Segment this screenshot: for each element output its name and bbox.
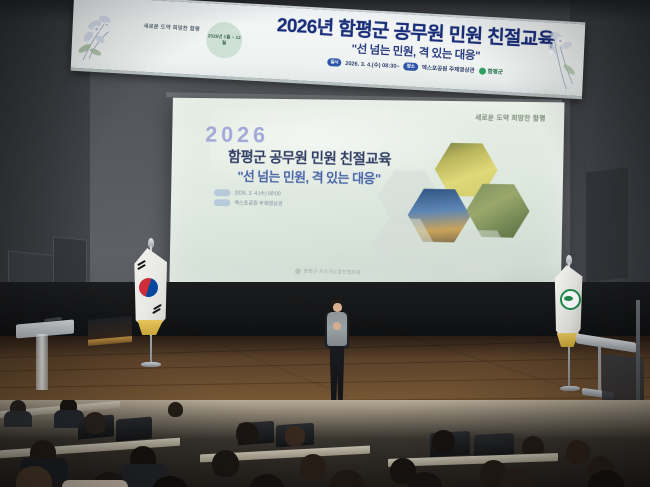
slide-corner-slogan: 새로운 도약 희망찬 함평	[475, 113, 546, 123]
county-flag-base	[560, 386, 580, 391]
speaker-hands	[333, 322, 341, 330]
audience-body-light-jacket	[62, 480, 128, 487]
slide-place-text: 엑스포공원 주제영상관	[234, 199, 282, 207]
audience-head	[84, 412, 106, 434]
slide-year: 2026	[205, 122, 269, 149]
slide-footer-text: 함평군 지속가능발전협의회	[304, 269, 361, 276]
banner-place-text: 엑스포공원 주제영상관	[422, 63, 475, 74]
banner-org-name: 함평군	[487, 67, 503, 76]
speaker-person	[322, 298, 352, 410]
auditorium-photo: 새로운 도약 희망찬 함평 2026년 1월 ~ 12월 2026년 함평군 공…	[0, 0, 650, 487]
audience-seating-area	[0, 400, 650, 487]
slide-footer-logo: 함평군 지속가능발전협의회	[295, 268, 361, 276]
speaker-face	[333, 303, 342, 312]
audience-head	[285, 426, 305, 446]
taeguk-circle-icon	[135, 274, 161, 300]
banner-org-logo: 함평군	[478, 66, 503, 75]
audience-head	[300, 454, 326, 480]
korean-flag-base	[141, 362, 161, 367]
slide-place-chip	[214, 199, 231, 206]
slide-date-chip	[214, 189, 231, 196]
speaker-trousers	[329, 346, 345, 402]
audience-head	[432, 430, 455, 453]
wall-vent-right	[586, 167, 628, 282]
slide-hex-photo-grid	[372, 140, 555, 279]
banner-year-badge: 2026년 1월 ~ 12월	[205, 21, 243, 59]
audience-head	[250, 474, 284, 487]
audience-head	[236, 422, 258, 444]
banner-place-chip: 장소	[403, 62, 417, 71]
audience-head	[212, 450, 239, 477]
audience-body	[4, 411, 32, 427]
banner-date-chip: 일시	[327, 58, 341, 67]
acrylic-podium-stem	[36, 334, 48, 390]
audience-head	[566, 440, 590, 464]
seat	[116, 416, 152, 441]
slide-date-text: 2026. 3. 4.(수) 08:00	[234, 190, 280, 198]
audience-head	[500, 468, 534, 487]
banner-slogan: 새로운 도약 희망찬 함평	[137, 23, 207, 34]
projection-screen: 새로운 도약 희망찬 함평 2026 함평군 공무원 민원 친절교육 "선 넘는…	[169, 98, 564, 298]
banner-flower-decor-left	[73, 0, 142, 69]
stage-left-box	[88, 316, 132, 342]
banner-date-text: 2026. 3. 4.(수) 08:30~	[345, 59, 400, 70]
hampyeong-mark-icon	[478, 67, 485, 74]
slide-footer-mark-icon	[295, 268, 301, 274]
banner-flower-decor-right	[522, 21, 581, 94]
equipment-stand-pole	[598, 346, 601, 392]
county-emblem-icon	[560, 289, 581, 310]
audience-head	[168, 402, 183, 417]
audience-head	[330, 470, 364, 487]
